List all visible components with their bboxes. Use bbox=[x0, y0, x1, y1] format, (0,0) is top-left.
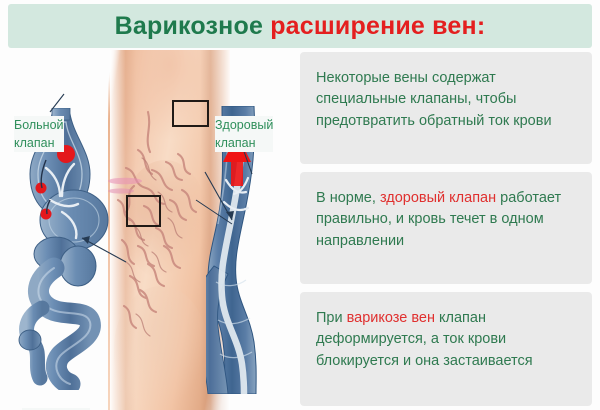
info-box-3-seg1: При bbox=[316, 310, 347, 326]
leg-photo bbox=[108, 50, 230, 410]
label-healthy-valve-line2: клапан bbox=[215, 134, 273, 152]
info-box-1-text: Некоторые вены содержат специальные клап… bbox=[316, 70, 552, 129]
label-healthy-valve: Здоровый клапан bbox=[215, 116, 273, 152]
title-green-part: Варикозное bbox=[115, 12, 271, 40]
lower-callout-box bbox=[126, 195, 161, 227]
leg-calf-highlight bbox=[114, 286, 208, 410]
blood-marker bbox=[36, 183, 47, 194]
info-box-2-seg1: В норме, bbox=[316, 190, 380, 206]
info-box-valves-purpose: Некоторые вены содержат специальные клап… bbox=[300, 52, 592, 164]
title-red-part: расширение вен: bbox=[270, 12, 485, 40]
blood-marker bbox=[41, 209, 52, 220]
page-title: Варикозное расширение вен: bbox=[115, 12, 486, 41]
info-box-varicose-valve: При варикозе вен клапан деформируется, а… bbox=[300, 292, 592, 406]
label-healthy-valve-line1: Здоровый bbox=[215, 116, 273, 134]
label-sick-valve-line1: Больной bbox=[14, 116, 64, 134]
info-box-3-highlight: варикозе вен bbox=[347, 310, 435, 326]
title-banner: Варикозное расширение вен: bbox=[8, 4, 592, 48]
info-box-2-highlight: здоровый клапан bbox=[380, 190, 496, 206]
info-box-normal-valve: В норме, здоровый клапан работает правил… bbox=[300, 172, 592, 284]
label-sick-valve-line2: клапан bbox=[14, 134, 64, 152]
infographic-poster: Варикозное расширение вен: bbox=[0, 0, 600, 410]
upper-callout-box bbox=[172, 100, 209, 127]
label-sick-valve: Больной клапан bbox=[14, 116, 64, 152]
anatomy-illustration: Больной клапан Здоровый клапан Варикозна… bbox=[0, 50, 296, 410]
